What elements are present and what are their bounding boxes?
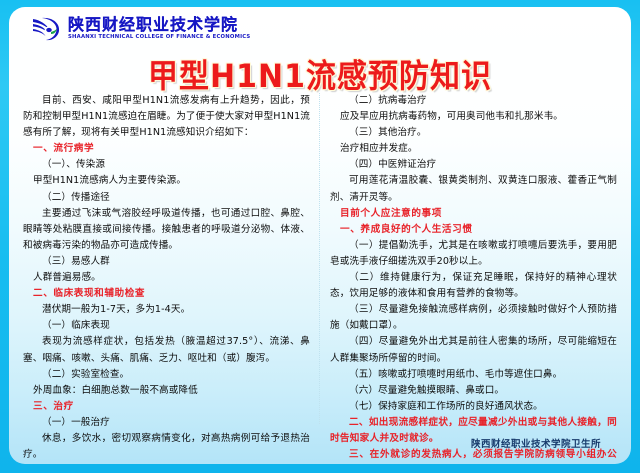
- text-manifestation: 表现为流感样症状，包括发热（腋温超过37.5°）、流涕、鼻塞、咽痛、咳嗽、头痛、…: [23, 334, 310, 366]
- subheading-tcm: （四）中医辨证治疗: [330, 157, 617, 173]
- subheading-general-treatment: （一）一般治疗: [23, 415, 310, 431]
- subheading-source: （一）、传染源: [23, 157, 310, 173]
- health-poster: 陕西财经职业技术学院 SHAANXI TECHNICAL COLLEGE OF …: [0, 0, 640, 473]
- habit-item-2: （二）维持健康行为，保证充足睡眠，保持好的精神心理状态，饮用足够的液体和食用有营…: [330, 270, 617, 302]
- section-heading-precautions: 目前个人应注意的事项: [330, 206, 617, 222]
- habit-item-1: （一）提倡勤洗手，尤其是在咳嗽或打喷嚏后要洗手，要用肥皂或洗手液仔细搓洗双手20…: [330, 238, 617, 270]
- text-lab: 外周血象：白细胞总数一般不高或降低: [23, 383, 310, 399]
- section-heading-epidemiology: 一、流行病学: [23, 141, 310, 157]
- page-title: 甲型H1N1流感预防知识: [148, 49, 492, 97]
- left-column: 目前、西安、咸阳甲型H1N1流感发病有上升趋势，因此，预防和控制甲型H1N1流感…: [23, 93, 320, 424]
- college-logo: 陕西财经职业技术学院 SHAANXI TECHNICAL COLLEGE OF …: [31, 15, 247, 43]
- college-emblem-icon: [31, 15, 63, 43]
- subheading-transmission: （二）传播途径: [23, 190, 310, 206]
- habit-item-4: （四）尽量避免外出尤其是前往人密集的场所，尽可能缩短在人群集聚场所停留的时间。: [330, 334, 617, 366]
- section-heading-treatment: 三、治疗: [23, 399, 310, 415]
- habit-item-5: （五）咳嗽或打喷嚏时用纸巾、毛巾等遮住口鼻。: [330, 367, 617, 383]
- poster-sheet: 陕西财经职业技术学院 SHAANXI TECHNICAL COLLEGE OF …: [9, 7, 631, 464]
- text-tcm: 可用莲花清温胶囊、银黄类制剂、双黄连口服液、藿香正气制剂、清开灵等。: [330, 173, 617, 205]
- poster-title-area: 甲型H1N1流感预防知识: [9, 51, 631, 95]
- text-general-treatment: 休息，多饮水，密切观察病情变化，对高热病例可给予退热治疗。: [23, 431, 310, 463]
- text-antiviral: 应及早应用抗病毒药物，可用奥司他韦和扎那米韦。: [330, 109, 617, 125]
- subheading-susceptible: （三）易感人群: [23, 254, 310, 270]
- right-column: （二）抗病毒治疗 应及早应用抗病毒药物，可用奥司他韦和扎那米韦。 （三）其他治疗…: [320, 93, 617, 424]
- college-name-cn: 陕西财经职业技术学院: [68, 17, 247, 33]
- section-heading-clinical: 二、临床表现和辅助检查: [23, 286, 310, 302]
- habit-item-6: （六）尽量避免触摸眼睛、鼻或口。: [330, 383, 617, 399]
- subheading-manifestation: （一）临床表现: [23, 318, 310, 334]
- subheading-antiviral: （二）抗病毒治疗: [330, 93, 617, 109]
- habit-item-7: （七）保持家庭和工作场所的良好通风状态。: [330, 399, 617, 415]
- college-name-en: SHAANXI TECHNICAL COLLEGE OF FINANCE & E…: [68, 35, 250, 40]
- text-source: 甲型H1N1流感病人为主要传染源。: [23, 173, 310, 189]
- poster-body: 目前、西安、咸阳甲型H1N1流感发病有上升趋势，因此，预防和控制甲型H1N1流感…: [23, 93, 617, 424]
- subheading-habits: 一、养成良好的个人生活习惯: [330, 222, 617, 238]
- text-susceptible: 人群普遍易感。: [23, 270, 310, 286]
- intro-paragraph: 目前、西安、咸阳甲型H1N1流感发病有上升趋势，因此，预防和控制甲型H1N1流感…: [23, 93, 310, 141]
- text-transmission: 主要通过飞沫或气溶胶经呼吸道传播，也可通过口腔、鼻腔、眼睛等处粘膜直接或间接传播…: [23, 206, 310, 254]
- poster-footer: 陕西财经职业技术学院卫生所: [471, 436, 601, 450]
- habit-item-3: （三）尽量避免接触流感样病例，必须接触时做好个人预防措施（如戴口罩）。: [330, 302, 617, 334]
- text-other-treatment: 治疗相应并发症。: [330, 141, 617, 157]
- college-name-block: 陕西财经职业技术学院 SHAANXI TECHNICAL COLLEGE OF …: [68, 17, 247, 40]
- subheading-lab: （二）实验室检查。: [23, 367, 310, 383]
- subheading-other-treatment: （三）其他治疗。: [330, 125, 617, 141]
- text-incubation: 潜伏期一般为1-7天，多为1-4天。: [23, 302, 310, 318]
